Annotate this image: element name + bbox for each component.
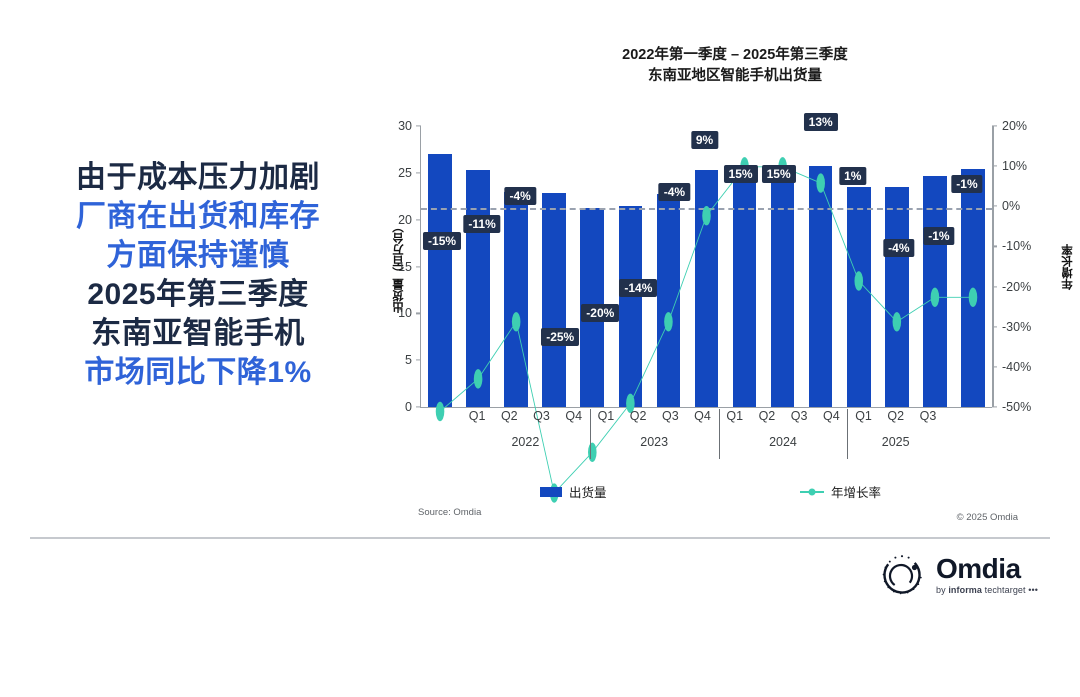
x-tick-quarter: Q1: [847, 409, 879, 423]
chart-title-line-1: 2022年第一季度 – 2025年第三季度: [520, 45, 950, 66]
y-tick-left-25: 25: [398, 166, 421, 180]
growth-data-label: -4%: [659, 183, 690, 201]
y-tick-right--10pct: -10%: [992, 239, 1031, 253]
slide: 由于成本压力加剧厂商在出货和库存方面保持谨慎2025年第三季度东南亚智能手机市场…: [0, 0, 1080, 608]
y-tick-left-20: 20: [398, 213, 421, 227]
x-axis-year-separator: [847, 409, 848, 459]
headline-line-2: 厂商在出货和库存: [28, 197, 368, 236]
x-axis-quarter-labels: Q1Q2Q3Q4Q1Q2Q3Q4Q1Q2Q3Q4Q1Q2Q3: [461, 409, 944, 423]
x-axis-year-labels: 2022202320242025: [461, 435, 944, 449]
x-axis-year-2024: 2024: [719, 435, 848, 449]
legend-item-growth: 年增长率: [800, 482, 881, 501]
growth-data-label: 1%: [839, 167, 866, 185]
headline-line-1: 由于成本压力加剧: [28, 158, 368, 197]
headline-line-5: 东南亚智能手机: [28, 314, 368, 353]
y-tick-right-0pct: 0%: [992, 199, 1020, 213]
omdia-mark-icon: [880, 552, 926, 598]
growth-data-labels: -15%-11%-4%-25%-20%-14%-4%9%15%15%13%1%-…: [421, 126, 992, 407]
y-tick-right-20pct: 20%: [992, 119, 1027, 133]
x-tick-quarter: Q4: [558, 409, 590, 423]
chart-title-line-2: 东南亚地区智能手机出货量: [520, 66, 950, 87]
footer-divider: [30, 537, 1050, 539]
y-tick-right-10pct: 10%: [992, 159, 1027, 173]
x-tick-quarter: Q3: [525, 409, 557, 423]
growth-data-label: 9%: [691, 131, 718, 149]
y-tick-right--20pct: -20%: [992, 280, 1031, 294]
x-axis-year-separator: [719, 409, 720, 459]
x-tick-quarter: Q1: [461, 409, 493, 423]
omdia-tagline: by informa techtarget •••: [936, 586, 1038, 595]
copyright-note: © 2025 Omdia: [957, 512, 1018, 523]
growth-data-label: -4%: [883, 239, 914, 257]
source-note: Source: Omdia: [418, 507, 481, 518]
headline-line-6: 市场同比下降1%: [28, 353, 368, 392]
x-tick-quarter: Q3: [783, 409, 815, 423]
growth-data-label: -14%: [619, 279, 657, 297]
chart-legend: 出货量 年增长率: [380, 482, 1040, 504]
x-tick-quarter: Q4: [815, 409, 847, 423]
plot-region: 出货量（百万台） 年增长率 051015202530 -50%-40%-30%-…: [420, 126, 992, 408]
y-tick-left-10: 10: [398, 306, 421, 320]
headline-line-3: 方面保持谨慎: [28, 236, 368, 275]
y-tick-left-15: 15: [398, 260, 421, 274]
omdia-wordmark: Omdia by informa techtarget •••: [936, 555, 1038, 595]
omdia-word: Omdia: [936, 555, 1038, 583]
x-tick-quarter: Q2: [880, 409, 912, 423]
x-axis-year-separator: [590, 409, 591, 459]
legend-label-shipments: 出货量: [569, 482, 607, 501]
y-tick-left-0: 0: [405, 400, 421, 414]
x-tick-quarter: Q3: [654, 409, 686, 423]
growth-data-label: -1%: [923, 227, 954, 245]
chart-area: 出货量（百万台） 年增长率 051015202530 -50%-40%-30%-…: [380, 118, 1040, 418]
headline-block: 由于成本压力加剧厂商在出货和库存方面保持谨慎2025年第三季度东南亚智能手机市场…: [28, 158, 368, 392]
x-tick-quarter: Q2: [622, 409, 654, 423]
y-axis-right-title: 年增长率: [1060, 244, 1076, 290]
growth-data-label: -4%: [504, 187, 535, 205]
x-tick-quarter: Q2: [751, 409, 783, 423]
x-axis-year-2025: 2025: [847, 435, 944, 449]
line-swatch-icon: [800, 487, 824, 497]
x-axis-year-2023: 2023: [590, 435, 719, 449]
chart-title: 2022年第一季度 – 2025年第三季度 东南亚地区智能手机出货量: [520, 45, 950, 87]
x-tick-quarter: Q2: [493, 409, 525, 423]
headline-line-4: 2025年第三季度: [28, 275, 368, 314]
x-tick-quarter: Q4: [686, 409, 718, 423]
growth-data-label: -25%: [541, 328, 579, 346]
growth-data-label: 13%: [804, 113, 838, 131]
growth-data-label: -1%: [951, 175, 982, 193]
x-tick-quarter: Q1: [719, 409, 751, 423]
y-tick-right--50pct: -50%: [992, 400, 1031, 414]
y-tick-left-30: 30: [398, 119, 421, 133]
x-tick-quarter: Q3: [912, 409, 944, 423]
growth-data-label: -20%: [581, 304, 619, 322]
growth-data-label: 15%: [762, 165, 796, 183]
x-axis: Q1Q2Q3Q4Q1Q2Q3Q4Q1Q2Q3Q4Q1Q2Q3 202220232…: [461, 407, 944, 465]
y-tick-left-5: 5: [405, 353, 421, 367]
bar-swatch-icon: [540, 487, 562, 497]
legend-item-shipments: 出货量: [540, 482, 607, 501]
growth-data-label: -11%: [463, 215, 500, 233]
legend-label-growth: 年增长率: [831, 482, 881, 501]
growth-data-label: 15%: [724, 165, 758, 183]
growth-data-label: -15%: [423, 232, 461, 250]
y-tick-right--40pct: -40%: [992, 360, 1031, 374]
omdia-logo: Omdia by informa techtarget •••: [880, 552, 1038, 598]
x-tick-quarter: Q1: [590, 409, 622, 423]
y-tick-right--30pct: -30%: [992, 320, 1031, 334]
x-axis-year-2022: 2022: [461, 435, 590, 449]
